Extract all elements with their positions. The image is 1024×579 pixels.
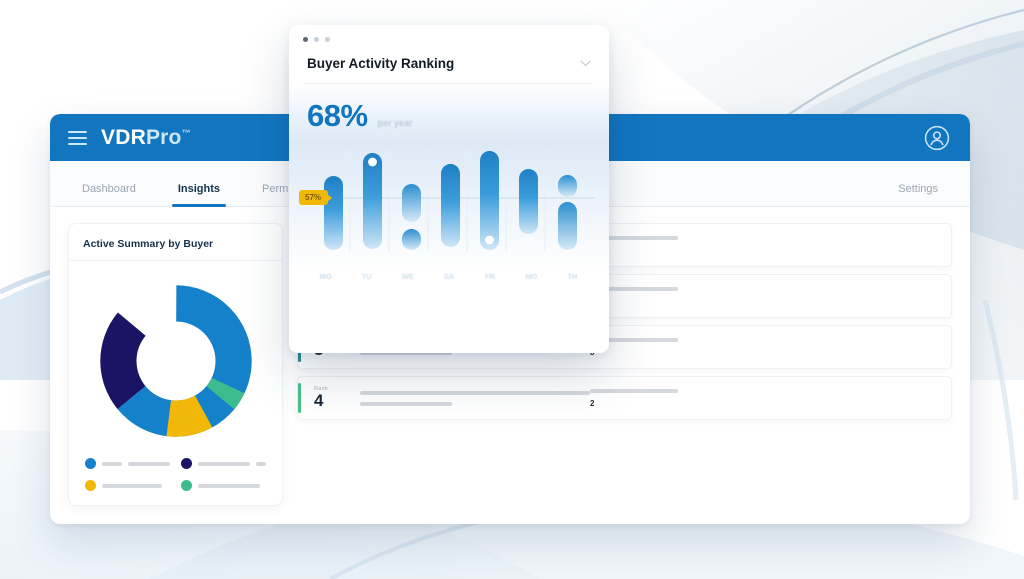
legend-label-placeholder — [198, 484, 260, 488]
x-label-4: FR — [470, 272, 511, 281]
donut-segment-4 — [118, 303, 233, 418]
x-label-0: MO — [305, 272, 346, 281]
legend-item[interactable] — [181, 458, 267, 469]
row-subtitle-placeholder — [360, 402, 452, 406]
tab-dashboard[interactable]: Dashboard — [76, 183, 142, 206]
bar-sa — [441, 164, 460, 247]
legend-label-placeholder — [102, 462, 122, 466]
x-label-2: WE — [387, 272, 428, 281]
kpi-subtext: per year — [378, 118, 413, 128]
legend-item[interactable] — [85, 480, 171, 491]
x-label-1: TU — [346, 272, 387, 281]
donut-legend — [83, 454, 268, 493]
chevron-down-icon[interactable] — [580, 60, 591, 67]
brand-trademark: ™ — [182, 128, 191, 138]
rank-cell: Rank 4 — [314, 386, 360, 410]
row-value-cell: 8 — [590, 338, 820, 357]
row-value: 2 — [590, 399, 594, 408]
kpi-row: 68% per year — [307, 98, 591, 134]
chart-x-axis-labels: MO TU WE SA FR MO TH — [289, 272, 609, 281]
donut-chart-wrap — [83, 267, 268, 454]
legend-label-placeholder — [198, 462, 250, 466]
popup-header: Buyer Activity Ranking — [289, 42, 609, 83]
legend-color-swatch — [181, 458, 192, 469]
legend-color-swatch — [85, 458, 96, 469]
bar-we-lower — [402, 229, 421, 250]
bar-fr — [480, 151, 499, 250]
brand-suffix: Pro — [146, 126, 182, 149]
legend-value-placeholder — [128, 462, 170, 466]
dot-1 — [303, 37, 308, 42]
chart-value-badge: 57% — [299, 190, 328, 205]
x-label-3: SA — [428, 272, 469, 281]
legend-item[interactable] — [85, 458, 171, 469]
buyer-activity-popup-card: Buyer Activity Ranking 68% per year — [289, 25, 609, 353]
row-accent-bar — [298, 383, 301, 413]
hamburger-menu-icon[interactable] — [68, 131, 87, 145]
row-title-placeholder — [360, 391, 590, 395]
row-text-placeholders — [360, 391, 590, 406]
tab-settings[interactable]: Settings — [892, 183, 944, 206]
bar-mo-2 — [519, 169, 538, 234]
bar-th-upper — [558, 175, 577, 197]
row-value-cell: 54 — [590, 236, 820, 255]
bar-marker-fr — [485, 236, 494, 245]
activity-bar-chart: 57% — [289, 142, 609, 270]
bar-th-lower — [558, 202, 577, 250]
brand-logo: VDRPro™ — [101, 126, 191, 150]
legend-label-placeholder — [102, 484, 162, 488]
bar-mo-1 — [324, 176, 343, 250]
kpi-band: 68% per year — [289, 84, 609, 144]
rank-number: 4 — [314, 392, 360, 410]
table-row[interactable]: Rank 4 2 — [297, 376, 952, 420]
user-account-icon[interactable] — [924, 125, 950, 151]
bar-marker-tu — [368, 158, 377, 167]
panel-divider — [69, 260, 282, 261]
legend-color-swatch — [85, 480, 96, 491]
dot-2 — [314, 37, 319, 42]
x-label-6: TH — [552, 272, 593, 281]
screen: VDRPro™ Dashboard Insights Permissions S… — [0, 0, 1024, 579]
panel-title: Active Summary by Buyer — [83, 238, 268, 250]
legend-color-swatch — [181, 480, 192, 491]
tab-bar-right: Settings — [892, 183, 944, 206]
kpi-value: 68% — [307, 98, 368, 134]
bar-tu — [363, 153, 382, 249]
x-label-5: MO — [511, 272, 552, 281]
bar-chart-svg — [289, 142, 609, 270]
donut-chart — [100, 285, 252, 437]
dot-3 — [325, 37, 330, 42]
popup-title: Buyer Activity Ranking — [307, 56, 454, 71]
tab-insights[interactable]: Insights — [172, 183, 226, 206]
bar-we-upper — [402, 184, 421, 222]
row-value-placeholder — [590, 389, 678, 393]
active-summary-panel: Active Summary by Buyer — [68, 223, 283, 506]
brand-prefix: VDR — [101, 126, 146, 149]
legend-value-placeholder — [256, 462, 266, 466]
legend-item[interactable] — [181, 480, 267, 491]
row-value-cell: 39 — [590, 287, 820, 306]
row-value-cell: 2 — [590, 389, 820, 408]
window-control-dots[interactable] — [289, 25, 609, 42]
